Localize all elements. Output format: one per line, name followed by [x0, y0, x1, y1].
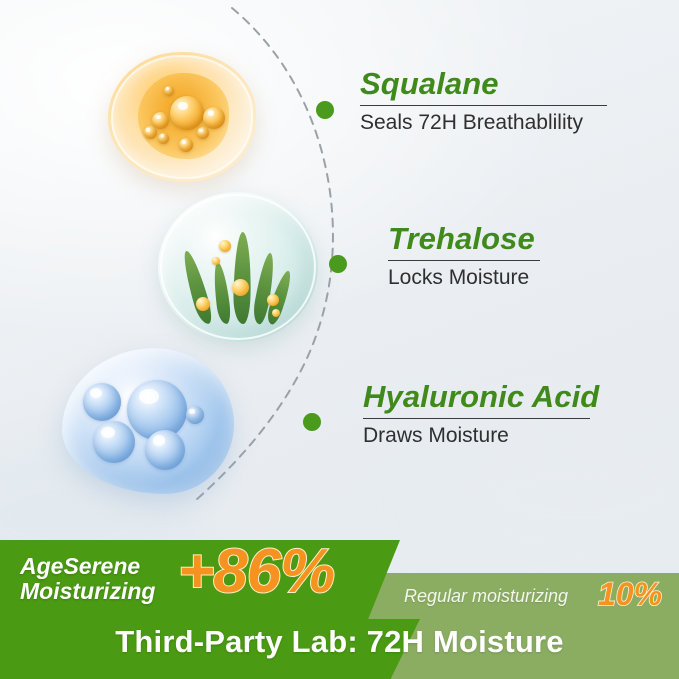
brand-claim-word: Moisturizing: [20, 579, 190, 604]
oil-bubble: [158, 133, 169, 144]
algae-bubble: [272, 309, 280, 317]
oil-bubble: [144, 126, 157, 139]
gel-droplet: [145, 430, 185, 470]
callout-title: Hyaluronic Acid: [363, 381, 593, 414]
callout-divider: [388, 260, 540, 261]
connector-dot-trehalose: [329, 255, 347, 273]
infographic-root: Squalane Seals 72H Breathablility Trehal…: [0, 0, 679, 679]
connector-dot-hyaluronic: [303, 413, 321, 431]
regular-percent-value: 10%: [598, 578, 662, 610]
oil-bubble: [164, 86, 174, 96]
oil-bubble: [179, 138, 193, 152]
callout-subtitle: Draws Moisture: [363, 424, 593, 448]
algae-bubble: [219, 240, 231, 252]
callout-divider: [363, 418, 590, 419]
callout-squalane: Squalane Seals 72H Breathablility: [360, 68, 610, 135]
callout-title: Squalane: [360, 68, 610, 101]
oil-bubble: [203, 107, 225, 129]
callout-hyaluronic: Hyaluronic Acid Draws Moisture: [363, 381, 593, 448]
connector-dot-squalane: [316, 101, 334, 119]
regular-moisturizing-label: Regular moisturizing: [404, 586, 568, 607]
gel-droplet: [186, 406, 204, 424]
trehalose-algae-sphere: [158, 192, 318, 342]
squalane-oil-dish: [108, 52, 256, 182]
callout-trehalose: Trehalose Locks Moisture: [388, 223, 548, 290]
algae-bubble: [212, 257, 220, 265]
callout-divider: [360, 105, 607, 106]
brand-block: AgeSerene Moisturizing: [20, 554, 190, 604]
algae-bubble: [232, 279, 249, 296]
brand-name: AgeSerene: [20, 554, 190, 579]
brand-percent-value: +86%: [178, 541, 334, 603]
gel-droplet: [93, 421, 135, 463]
callout-subtitle: Locks Moisture: [388, 266, 548, 290]
callout-subtitle: Seals 72H Breathablility: [360, 111, 610, 135]
gel-droplet: [83, 383, 121, 421]
lab-claim-text: Third-Party Lab: 72H Moisture: [0, 624, 679, 660]
callout-title: Trehalose: [388, 223, 548, 256]
algae-bubble: [267, 294, 279, 306]
